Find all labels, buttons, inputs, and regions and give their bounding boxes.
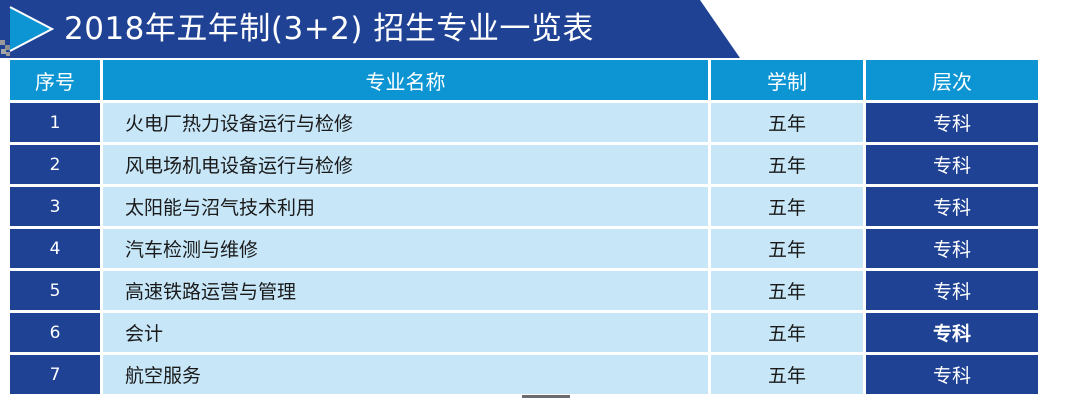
row-index: 6 [10, 313, 100, 352]
row-duration: 五年 [711, 103, 863, 142]
row-level: 专科 [866, 103, 1038, 142]
row-level: 专科 [866, 355, 1038, 394]
column-header-name: 专业名称 [103, 60, 708, 100]
table-row[interactable]: 1 火电厂热力设备运行与检修 五年 专科 [10, 103, 1078, 142]
majors-table: 序号 专业名称 学制 层次 1 火电厂热力设备运行与检修 五年 专科 2 风电场… [10, 60, 1078, 397]
row-duration: 五年 [711, 229, 863, 268]
row-index: 3 [10, 187, 100, 226]
column-header-index: 序号 [10, 60, 100, 100]
column-header-years: 学制 [711, 60, 863, 100]
table-row[interactable]: 7 航空服务 五年 专科 [10, 355, 1078, 394]
row-duration: 五年 [711, 271, 863, 310]
row-major-name: 航空服务 [103, 355, 708, 394]
row-duration: 五年 [711, 355, 863, 394]
puzzle-piece-icon [0, 38, 18, 58]
row-major-name: 会计 [103, 313, 708, 352]
row-major-name: 风电场机电设备运行与检修 [103, 145, 708, 184]
row-index: 1 [10, 103, 100, 142]
row-duration: 五年 [711, 313, 863, 352]
row-major-name: 高速铁路运营与管理 [103, 271, 708, 310]
table-row[interactable]: 5 高速铁路运营与管理 五年 专科 [10, 271, 1078, 310]
table-row[interactable]: 2 风电场机电设备运行与检修 五年 专科 [10, 145, 1078, 184]
table-row[interactable]: 6 会计 五年 专科 [10, 313, 1078, 352]
page-banner: 2018年五年制(3+2) 招生专业一览表 [0, 0, 740, 58]
row-index: 4 [10, 229, 100, 268]
row-index: 2 [10, 145, 100, 184]
row-index: 7 [10, 355, 100, 394]
row-level: 专科 [866, 229, 1038, 268]
page-title: 2018年五年制(3+2) 招生专业一览表 [64, 0, 594, 58]
page-root: 2018年五年制(3+2) 招生专业一览表 序号 专业名称 学制 层次 1 火电… [0, 0, 1085, 400]
row-level: 专科 [866, 145, 1038, 184]
row-major-name: 汽车检测与维修 [103, 229, 708, 268]
row-index: 5 [10, 271, 100, 310]
table-row[interactable]: 4 汽车检测与维修 五年 专科 [10, 229, 1078, 268]
row-duration: 五年 [711, 187, 863, 226]
row-level: 专科 [866, 271, 1038, 310]
row-major-name: 火电厂热力设备运行与检修 [103, 103, 708, 142]
row-duration: 五年 [711, 145, 863, 184]
bottom-divider-stub [522, 395, 570, 398]
row-level: 专科 [866, 313, 1038, 352]
table-row[interactable]: 3 太阳能与沼气技术利用 五年 专科 [10, 187, 1078, 226]
row-level: 专科 [866, 187, 1038, 226]
table-header-row: 序号 专业名称 学制 层次 [10, 60, 1078, 100]
column-header-level: 层次 [866, 60, 1038, 100]
row-major-name: 太阳能与沼气技术利用 [103, 187, 708, 226]
